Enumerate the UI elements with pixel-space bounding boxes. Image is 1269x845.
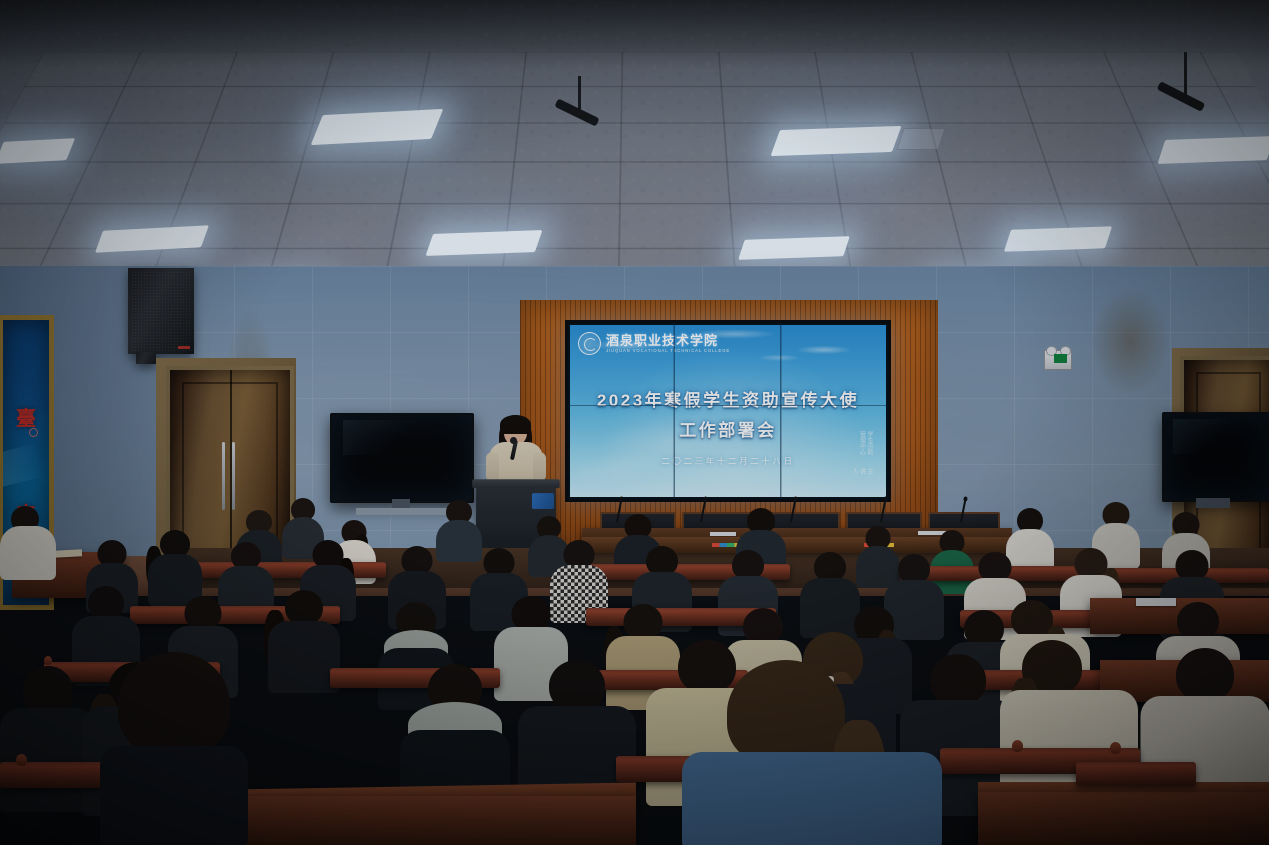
audience-desk [236, 796, 636, 845]
person-head [624, 604, 663, 640]
audience-desk [978, 792, 1269, 845]
person-head [1177, 602, 1219, 640]
person-head [118, 652, 230, 756]
speaker-badge [178, 346, 190, 349]
podium-top [472, 479, 560, 488]
slide-side-text: 学生资助管理中心 主讲人 [850, 431, 873, 479]
projector-mount-icon [556, 76, 600, 158]
exit-sign-icon [1054, 354, 1067, 363]
ceiling-light-panel [1004, 226, 1112, 251]
college-logo: 酒泉职业技术学院 JIUQUAN VOCATIONAL TECHNICAL CO… [578, 332, 730, 355]
person-head [727, 660, 845, 766]
ceiling-light-panel [0, 138, 75, 164]
person-torso [100, 746, 248, 845]
college-name-cn: 酒泉职业技术学院 [606, 334, 730, 347]
audience-member-foreground [682, 660, 942, 845]
wall-speaker [128, 268, 194, 354]
person-head [285, 590, 323, 625]
college-seal-icon [578, 332, 601, 355]
speaker-mesh [131, 271, 191, 351]
presenter-arm [486, 452, 499, 482]
microphone-head-icon [510, 437, 517, 444]
wall-stain [1090, 286, 1170, 396]
presenter-arm [533, 452, 546, 482]
ceiling-vent [896, 128, 945, 150]
slide-title-line2: 工作部署会 [568, 416, 888, 441]
audience-member [148, 530, 202, 602]
ceiling-shadow [0, 0, 1269, 70]
audience-member [0, 502, 56, 574]
papers [54, 549, 82, 557]
ceiling-light-panel [426, 230, 543, 256]
speaker-bracket [136, 352, 156, 364]
banner-swoosh [0, 443, 45, 493]
slide-title-line1: 2023年寒假学生资助宣传大使 [568, 386, 888, 411]
person-head [88, 586, 124, 620]
slide-side-col2: 主讲人 [850, 468, 873, 479]
ceiling-light-panel [771, 126, 902, 156]
audience-seating-area [0, 490, 1269, 845]
audience-member-foreground [100, 652, 248, 845]
conference-hall-photo: 臺 来 酒泉职业技术学院 JIUQUAN V [0, 0, 1269, 845]
right-display-monitor [1162, 412, 1269, 502]
person-torso [682, 752, 942, 845]
bench-knob [16, 754, 27, 766]
college-name-en: JIUQUAN VOCATIONAL TECHNICAL COLLEGE [606, 349, 730, 353]
projector-mount-icon [1160, 52, 1208, 162]
bench-row [1076, 762, 1196, 786]
bench-knob [44, 656, 52, 665]
bench-knob [1012, 740, 1023, 752]
banner-char-top: 臺 [3, 402, 49, 431]
presenter-hair-top [500, 415, 531, 434]
slide-date: 二〇二三年十二月二十八日 [568, 455, 888, 467]
person-head [1176, 648, 1234, 702]
emergency-light [1044, 350, 1072, 370]
person-torso [0, 526, 56, 580]
bench-knob [1110, 742, 1121, 754]
slide-side-col1: 学生资助管理中心 [850, 431, 873, 461]
person-head [549, 660, 605, 712]
presentation-screen: 酒泉职业技术学院 JIUQUAN VOCATIONAL TECHNICAL CO… [565, 320, 891, 502]
ceiling-light-panel [738, 236, 850, 260]
person-head [185, 596, 222, 630]
banner-mark [29, 428, 38, 437]
person-head [23, 666, 73, 714]
